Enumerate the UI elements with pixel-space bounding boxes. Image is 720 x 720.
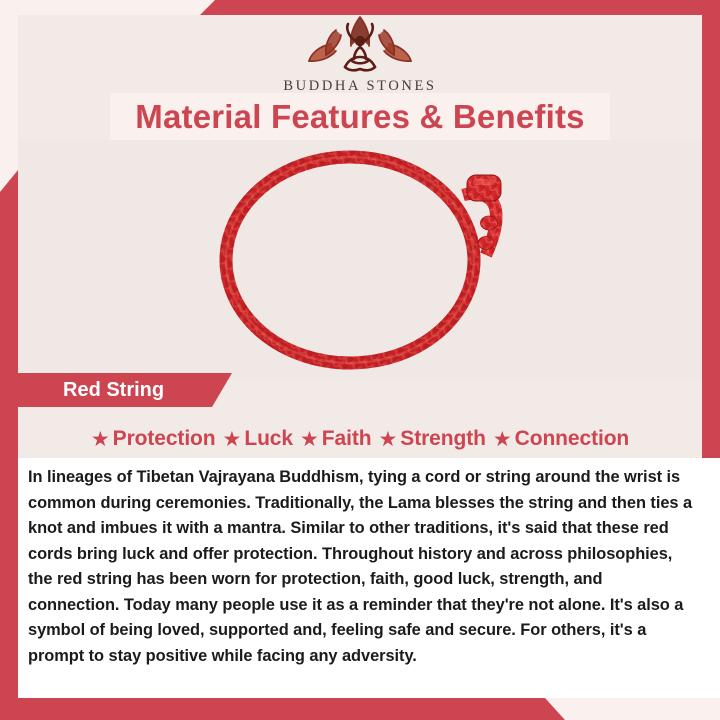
star-icon: ★ bbox=[378, 429, 397, 450]
feature-list: ★ Protection ★ Luck ★ Faith ★ Strength ★… bbox=[18, 420, 702, 458]
feature-label: Faith bbox=[322, 427, 372, 451]
star-icon: ★ bbox=[300, 429, 319, 450]
brand-logo: BUDDHA STONES bbox=[0, 14, 720, 95]
star-icon: ★ bbox=[91, 429, 110, 450]
red-string-bracelet-illustration bbox=[205, 147, 515, 373]
feature-item-faith: ★ Faith bbox=[300, 427, 372, 451]
feature-item-strength: ★ Strength bbox=[378, 427, 485, 451]
frame-bar-bottom bbox=[0, 698, 720, 720]
product-image bbox=[18, 140, 702, 380]
product-ribbon: Red String bbox=[0, 373, 232, 407]
description-panel: In lineages of Tibetan Vajrayana Buddhis… bbox=[18, 458, 720, 698]
star-icon: ★ bbox=[493, 429, 512, 450]
feature-label: Connection bbox=[515, 427, 630, 451]
feature-item-luck: ★ Luck bbox=[223, 427, 293, 451]
feature-label: Luck bbox=[244, 427, 293, 451]
lotus-meditation-icon bbox=[301, 14, 419, 76]
infographic-poster: BUDDHA STONES Material Features & Benefi… bbox=[0, 0, 720, 720]
feature-item-protection: ★ Protection bbox=[91, 427, 216, 451]
feature-item-connection: ★ Connection bbox=[493, 427, 629, 451]
title-banner: Material Features & Benefits bbox=[110, 93, 610, 140]
page-title: Material Features & Benefits bbox=[135, 98, 584, 136]
frame-bar-top bbox=[0, 0, 720, 15]
star-icon: ★ bbox=[223, 429, 242, 450]
description-text: In lineages of Tibetan Vajrayana Buddhis… bbox=[28, 465, 694, 669]
feature-label: Strength bbox=[400, 427, 486, 451]
frame-bar-left bbox=[0, 170, 18, 720]
feature-label: Protection bbox=[113, 427, 216, 451]
ribbon-label: Red String bbox=[63, 379, 164, 402]
